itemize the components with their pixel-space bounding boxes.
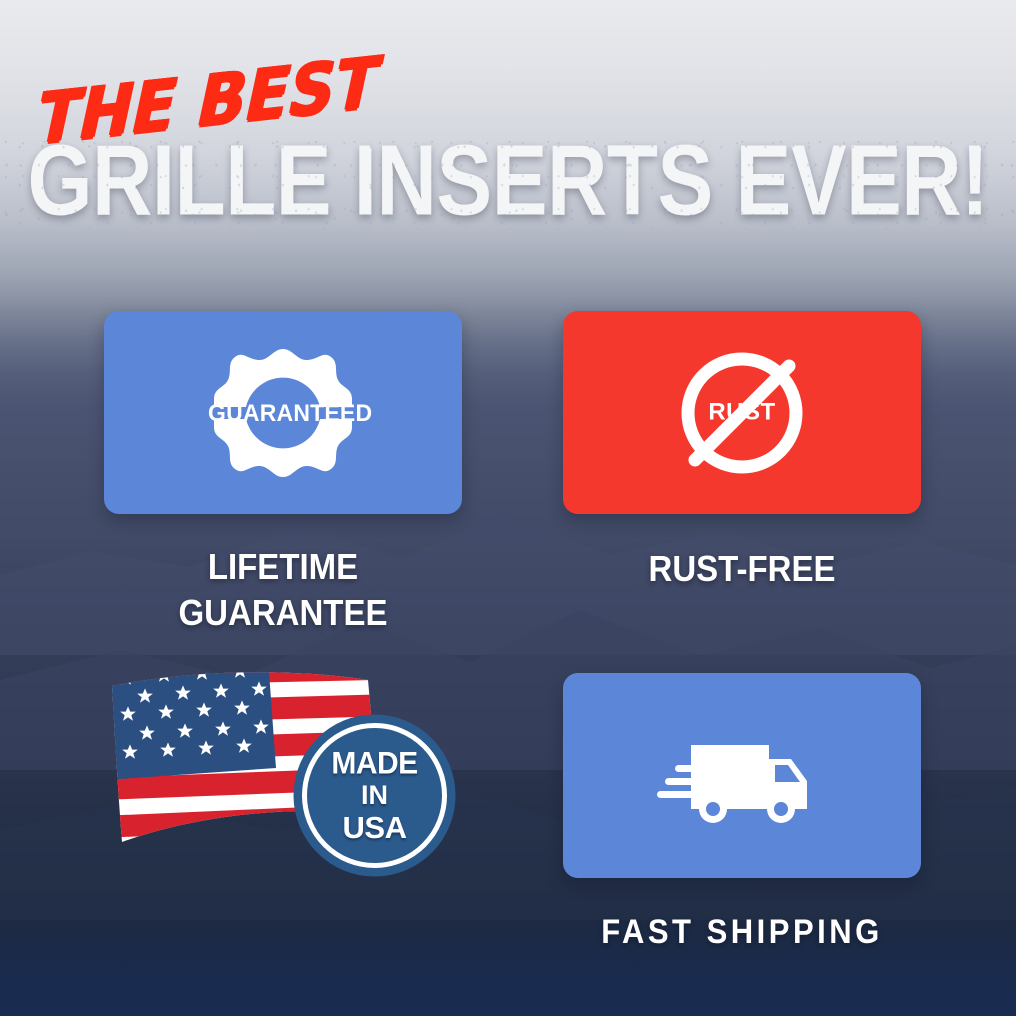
feature-made-in-usa: MADE IN USA [100,664,470,889]
badge-line-1: MADE [293,748,456,780]
feature-label-lifetime-guarantee: LIFETIME GUARANTEE [104,544,462,637]
delivery-truck-icon [657,721,827,831]
rust-label: RUST [662,398,822,426]
rust-free-card[interactable]: RUST [563,311,921,514]
badge-line-2: IN [293,782,456,809]
guarantee-card[interactable]: GUARANTEED [104,311,462,514]
label-line-1: FAST SHIPPING [563,910,921,954]
seal-label: GUARANTEED [208,398,358,426]
feature-lifetime-guarantee: GUARANTEED LIFETIME GUARANTEE [104,311,462,632]
main-headline-text: GRILLE INSERTS EVER! [27,125,988,236]
page-title: GRILLE INSERTS EVER! [0,134,1016,229]
promo-poster: THE BEST GRILLE INSERTS EVER! GUARANTEED… [0,0,1016,1016]
badge-line-3: USA [293,812,456,843]
label-line-2: GUARANTEE [104,590,462,636]
feature-fast-shipping: FAST SHIPPING [563,673,921,952]
fast-shipping-card[interactable] [563,673,921,878]
feature-label-rust-free: RUST-FREE [563,546,921,592]
feature-label-fast-shipping: FAST SHIPPING [563,910,921,954]
label-line-1: RUST-FREE [563,546,921,592]
no-rust-icon: RUST [662,338,822,488]
feature-rust-free: RUST RUST-FREE [563,311,921,590]
label-line-1: LIFETIME [104,544,462,590]
made-in-usa-badge[interactable]: MADE IN USA [293,714,456,877]
guaranteed-seal-icon: GUARANTEED [208,343,358,483]
badge-label: MADE IN USA [293,749,456,843]
